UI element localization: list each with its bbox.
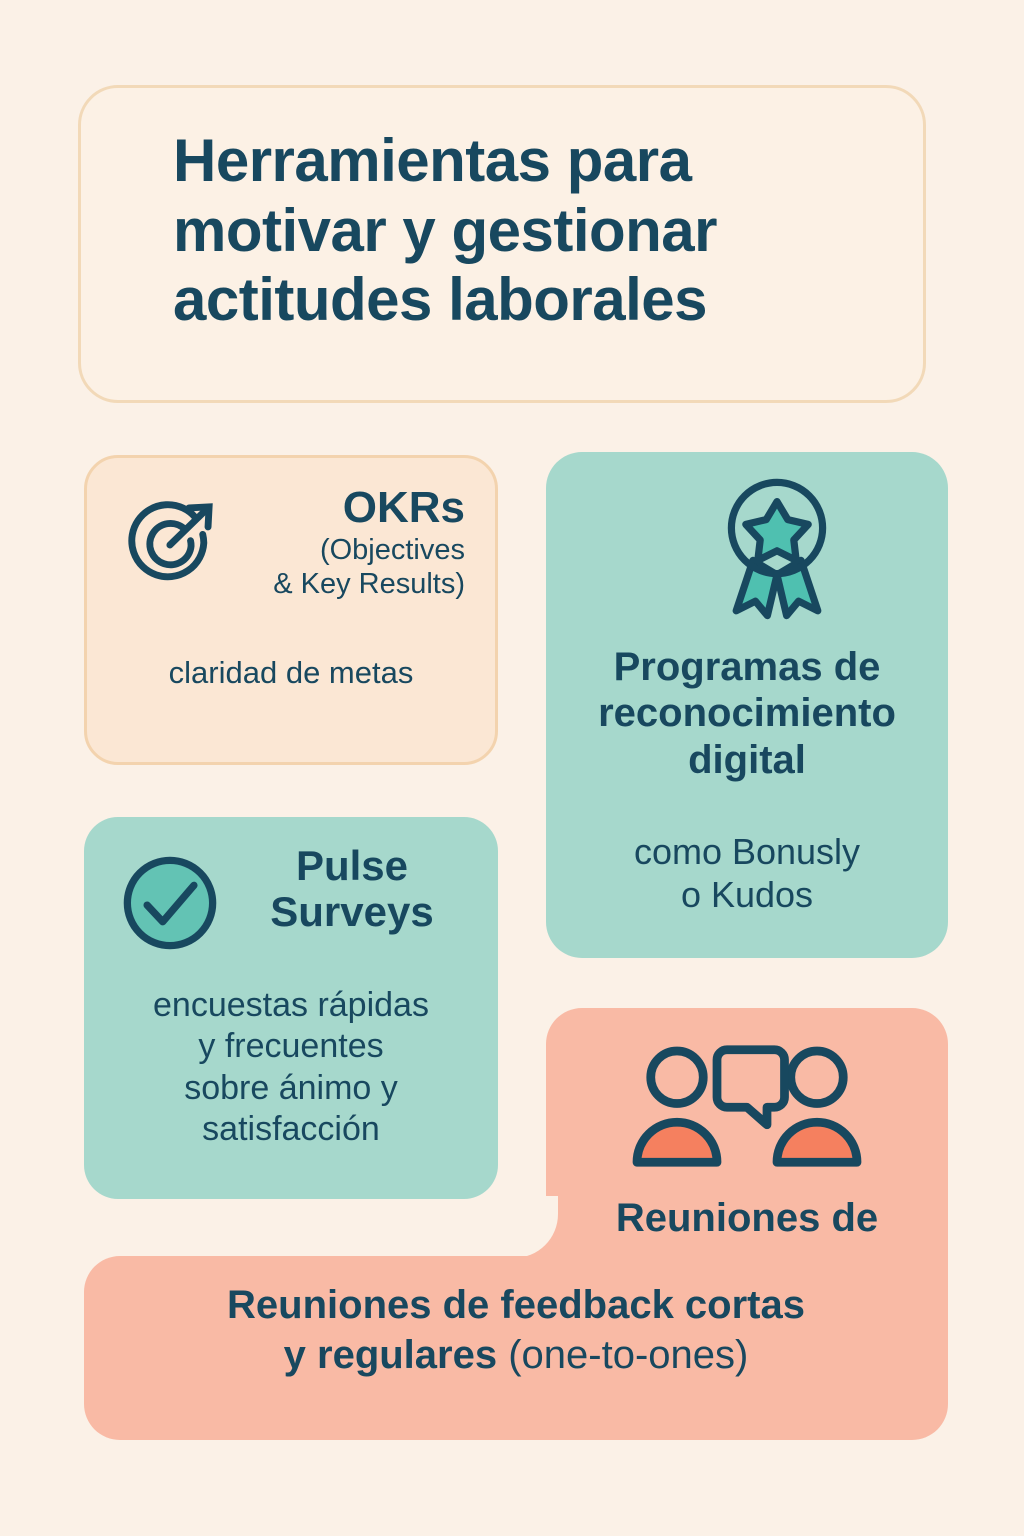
pulse-description: encuestas rápidas y frecuentes sobre áni… (94, 985, 488, 1151)
page-title: Herramientas para motivar y gestionar ac… (173, 126, 853, 335)
okrs-header: OKRs (Objectives & Key Results) (119, 486, 469, 601)
card-okrs[interactable]: OKRs (Objectives & Key Results) claridad… (84, 455, 498, 765)
okrs-title: OKRs (235, 486, 465, 530)
card-recognition[interactable]: Programas de reconocimiento digital como… (546, 452, 948, 958)
recognition-icon-wrap (546, 474, 948, 624)
award-ribbon-icon (717, 474, 837, 624)
pulse-header: Pulse Surveys (118, 843, 468, 955)
pulse-title: Pulse Surveys (236, 843, 468, 935)
two-people-speech-bubble-icon (622, 1042, 872, 1170)
recognition-description: como Bonusly o Kudos (558, 830, 936, 916)
check-circle-icon (118, 851, 222, 955)
okrs-text-block: OKRs (Objectives & Key Results) (235, 486, 469, 601)
infographic-canvas: Herramientas para motivar y gestionar ac… (0, 0, 1024, 1536)
meetings-icon-wrap (546, 1042, 948, 1170)
recognition-title: Programas de reconocimiento digital (558, 644, 936, 783)
card-pulse-surveys[interactable]: Pulse Surveys encuestas rápidas y frecue… (84, 817, 498, 1199)
meetings-description: Reuniones de feedback cortas y regulares… (110, 1280, 922, 1381)
title-card: Herramientas para motivar y gestionar ac… (78, 85, 926, 403)
meetings-title: Reuniones de (546, 1196, 948, 1240)
okrs-subtitle: (Objectives & Key Results) (235, 534, 465, 601)
target-arrow-icon (119, 492, 225, 598)
okrs-description: claridad de metas (87, 654, 495, 691)
meetings-description-light: (one-to-ones) (508, 1333, 748, 1377)
